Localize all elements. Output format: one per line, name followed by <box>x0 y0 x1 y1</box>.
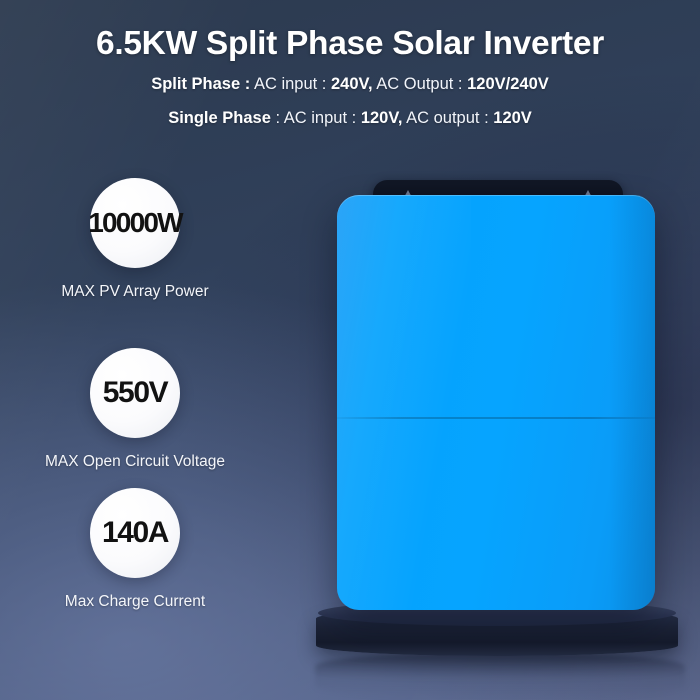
body-shadow-edge <box>604 195 655 610</box>
spec-line-single-phase: Single Phase : AC input : 120V, AC outpu… <box>0 110 700 127</box>
body-highlight <box>337 195 471 610</box>
feature-badge-pv-power: 10000W MAX PV Array Power <box>35 178 235 301</box>
badge-value: 140A <box>68 516 202 550</box>
solar-inverter-body: SUNGOLDPOWER 0.0 0.0 <box>337 195 655 610</box>
split-phase-output-value: 120V/240V <box>467 75 549 93</box>
badge-label: Max Charge Current <box>35 593 235 611</box>
badge-circle: 10000W <box>90 178 180 268</box>
single-phase-output-label: AC output : <box>406 109 489 127</box>
pedestal-reflection <box>315 652 685 700</box>
split-phase-input-value: 240V, <box>331 75 373 93</box>
badge-label: MAX PV Array Power <box>35 283 235 301</box>
split-phase-output-label: AC Output : <box>376 75 462 93</box>
single-phase-input-label: : AC input : <box>276 109 357 127</box>
body-seam-line <box>337 417 655 419</box>
feature-badge-open-circuit-voltage: 550V MAX Open Circuit Voltage <box>35 348 235 471</box>
split-phase-mode-label: Split Phase : <box>151 75 250 93</box>
page-title: 6.5KW Split Phase Solar Inverter <box>0 26 700 61</box>
badge-circle: 140A <box>90 488 180 578</box>
split-phase-input-label: AC input : <box>254 75 326 93</box>
badge-circle: 550V <box>90 348 180 438</box>
spec-line-split-phase: Split Phase : AC input : 240V, AC Output… <box>0 76 700 93</box>
single-phase-mode-label: Single Phase <box>168 109 271 127</box>
badge-label: MAX Open Circuit Voltage <box>35 453 235 471</box>
single-phase-output-value: 120V <box>493 109 532 127</box>
single-phase-input-value: 120V, <box>361 109 403 127</box>
badge-value: 550V <box>68 376 202 410</box>
badge-value: 10000W <box>68 207 202 239</box>
header-block: 6.5KW Split Phase Solar Inverter Split P… <box>0 0 700 126</box>
feature-badge-charge-current: 140A Max Charge Current <box>35 488 235 611</box>
product-promo-image: 6.5KW Split Phase Solar Inverter Split P… <box>0 0 700 700</box>
